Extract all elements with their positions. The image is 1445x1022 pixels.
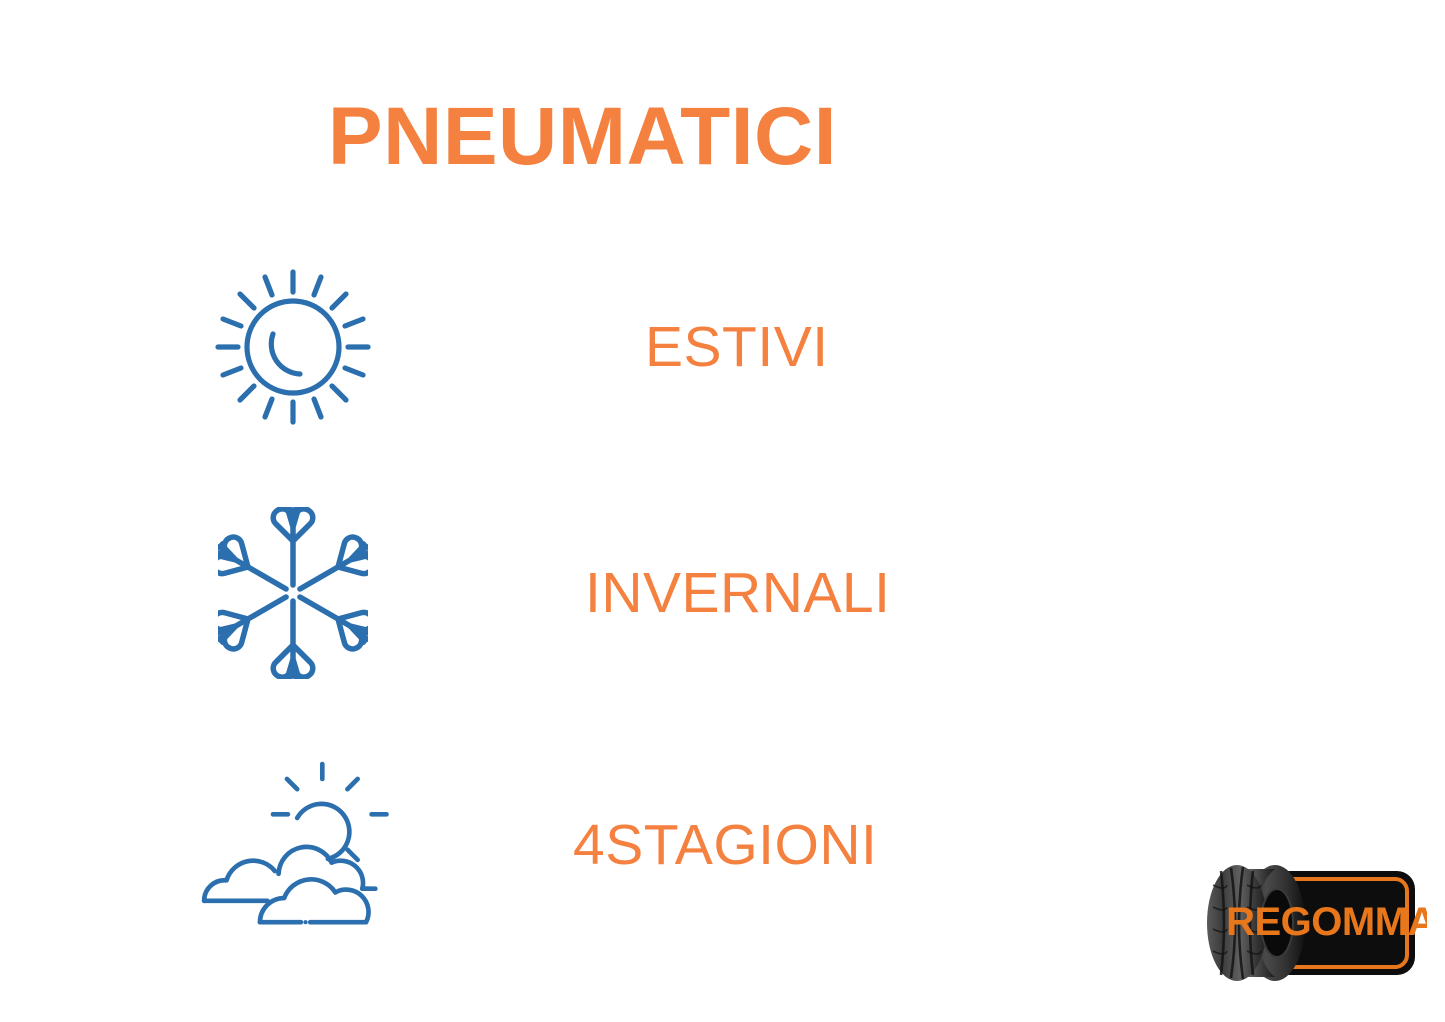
- row-invernali: INVERNALI: [0, 493, 1445, 693]
- sun-behind-clouds-icon: [193, 745, 393, 945]
- label-estivi: ESTIVI: [645, 314, 829, 380]
- label-invernali: INVERNALI: [585, 560, 890, 626]
- snowflake-icon: [193, 493, 393, 693]
- logo-wordmark: REGOMMA: [1226, 900, 1427, 944]
- sun-icon: [193, 247, 393, 447]
- label-4stagioni: 4STAGIONI: [573, 812, 877, 878]
- poster-canvas: PNEUMATICI: [0, 0, 1445, 1022]
- page-title: PNEUMATICI: [0, 96, 1445, 178]
- regomma-logo: REGOMMA: [1197, 855, 1427, 990]
- row-estivi: ESTIVI: [0, 247, 1445, 447]
